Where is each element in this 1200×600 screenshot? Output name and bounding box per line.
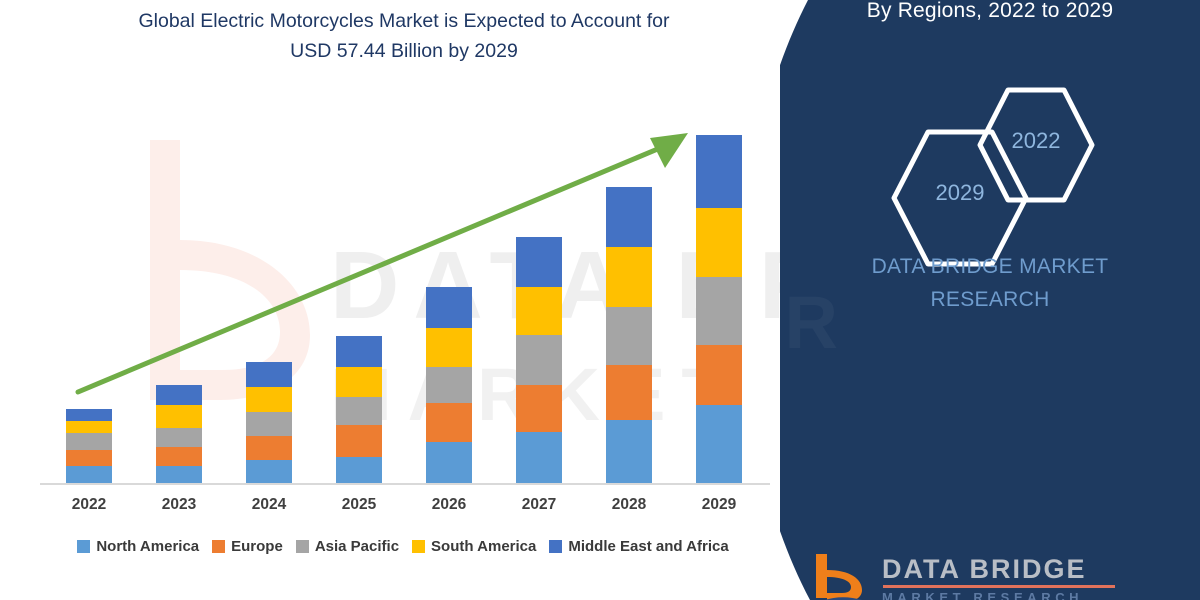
bar-segment-europe: [156, 447, 202, 466]
logo-name: DATA BRIDGE: [882, 554, 1115, 584]
bar-segment-europe: [606, 365, 652, 420]
bar-segment-middle-east-and-africa: [606, 187, 652, 247]
right-info-panel: DBMR By Regions, 2022 to 2029 2022 2029 …: [780, 0, 1200, 600]
bar-segment-europe: [336, 425, 382, 457]
chart-plot-area: 20222023202420252026202720282029: [0, 0, 820, 600]
legend-swatch-icon: [212, 540, 225, 553]
bar-segment-asia-pacific: [606, 307, 652, 365]
bar-segment-asia-pacific: [246, 412, 292, 436]
bar-segment-europe: [66, 450, 112, 466]
bar-segment-asia-pacific: [156, 428, 202, 447]
legend-label: Europe: [231, 538, 283, 555]
bar-segment-north-america: [516, 432, 562, 483]
bar-segment-north-america: [606, 420, 652, 483]
x-axis-label-2027: 2027: [499, 496, 579, 514]
bar-segment-middle-east-and-africa: [246, 362, 292, 387]
legend-item[interactable]: Asia Pacific: [296, 538, 399, 555]
bar-segment-south-america: [696, 208, 742, 277]
infographic-canvas: DATA BRIDGE MARKET RESEARCH Global Elect…: [0, 0, 1200, 600]
hexagon-label-2029: 2029: [890, 180, 1030, 206]
legend-label: Asia Pacific: [315, 538, 399, 555]
panel-brand: DATA BRIDGE MARKET RESEARCH: [780, 250, 1200, 316]
bar-segment-north-america: [426, 442, 472, 483]
bar-segment-south-america: [156, 405, 202, 428]
x-axis-label-2025: 2025: [319, 496, 399, 514]
x-axis-label-2022: 2022: [49, 496, 129, 514]
bar-segment-middle-east-and-africa: [156, 385, 202, 405]
logo-divider: [883, 585, 1115, 588]
x-axis-label-2028: 2028: [589, 496, 669, 514]
bar-segment-asia-pacific: [426, 367, 472, 403]
bar-segment-asia-pacific: [696, 277, 742, 345]
bar-segment-north-america: [66, 466, 112, 483]
x-axis-label-2029: 2029: [679, 496, 759, 514]
panel-brand-line-2: RESEARCH: [780, 283, 1200, 316]
bar-segment-middle-east-and-africa: [516, 237, 562, 287]
panel-title: By Regions, 2022 to 2029: [780, 0, 1200, 26]
bar-segment-europe: [426, 403, 472, 442]
bar-segment-south-america: [336, 367, 382, 397]
legend-item[interactable]: Middle East and Africa: [549, 538, 728, 555]
hexagon-badge-2029: 2029: [890, 128, 1030, 268]
bar-segment-europe: [516, 385, 562, 432]
bar-segment-europe: [696, 345, 742, 405]
legend-label: Middle East and Africa: [568, 538, 728, 555]
legend-swatch-icon: [77, 540, 90, 553]
bar-segment-south-america: [606, 247, 652, 307]
bar-segment-north-america: [336, 457, 382, 483]
legend-swatch-icon: [296, 540, 309, 553]
bar-segment-middle-east-and-africa: [66, 409, 112, 421]
bar-segment-south-america: [246, 387, 292, 412]
bar-segment-asia-pacific: [516, 335, 562, 385]
legend-label: North America: [96, 538, 199, 555]
legend-label: South America: [431, 538, 536, 555]
logo-subtitle: MARKET RESEARCH: [882, 590, 1115, 600]
x-axis-label-2026: 2026: [409, 496, 489, 514]
company-logo: DATA BRIDGE MARKET RESEARCH: [810, 548, 1170, 600]
bar-segment-middle-east-and-africa: [696, 135, 742, 208]
hexagon-badges: 2022 2029: [780, 86, 1200, 236]
bar-segment-south-america: [516, 287, 562, 335]
legend-swatch-icon: [549, 540, 562, 553]
legend-swatch-icon: [412, 540, 425, 553]
logo-mark-icon: [810, 552, 872, 600]
bar-segment-north-america: [246, 460, 292, 483]
bar-segment-asia-pacific: [66, 433, 112, 450]
legend-item[interactable]: South America: [412, 538, 536, 555]
chart-legend: North AmericaEuropeAsia PacificSouth Ame…: [0, 538, 806, 555]
bar-segment-middle-east-and-africa: [426, 287, 472, 328]
logo-text: DATA BRIDGE MARKET RESEARCH: [882, 554, 1115, 600]
bar-segment-north-america: [696, 405, 742, 483]
bar-segment-europe: [246, 436, 292, 460]
x-axis-label-2024: 2024: [229, 496, 309, 514]
x-axis-label-2023: 2023: [139, 496, 219, 514]
bar-segment-middle-east-and-africa: [336, 336, 382, 367]
bar-segment-south-america: [66, 421, 112, 433]
bar-segment-asia-pacific: [336, 397, 382, 425]
bar-segment-north-america: [156, 466, 202, 483]
panel-brand-line-1: DATA BRIDGE MARKET: [780, 250, 1200, 283]
bar-segment-south-america: [426, 328, 472, 367]
x-axis-line: [40, 483, 770, 485]
legend-item[interactable]: North America: [77, 538, 199, 555]
legend-item[interactable]: Europe: [212, 538, 283, 555]
